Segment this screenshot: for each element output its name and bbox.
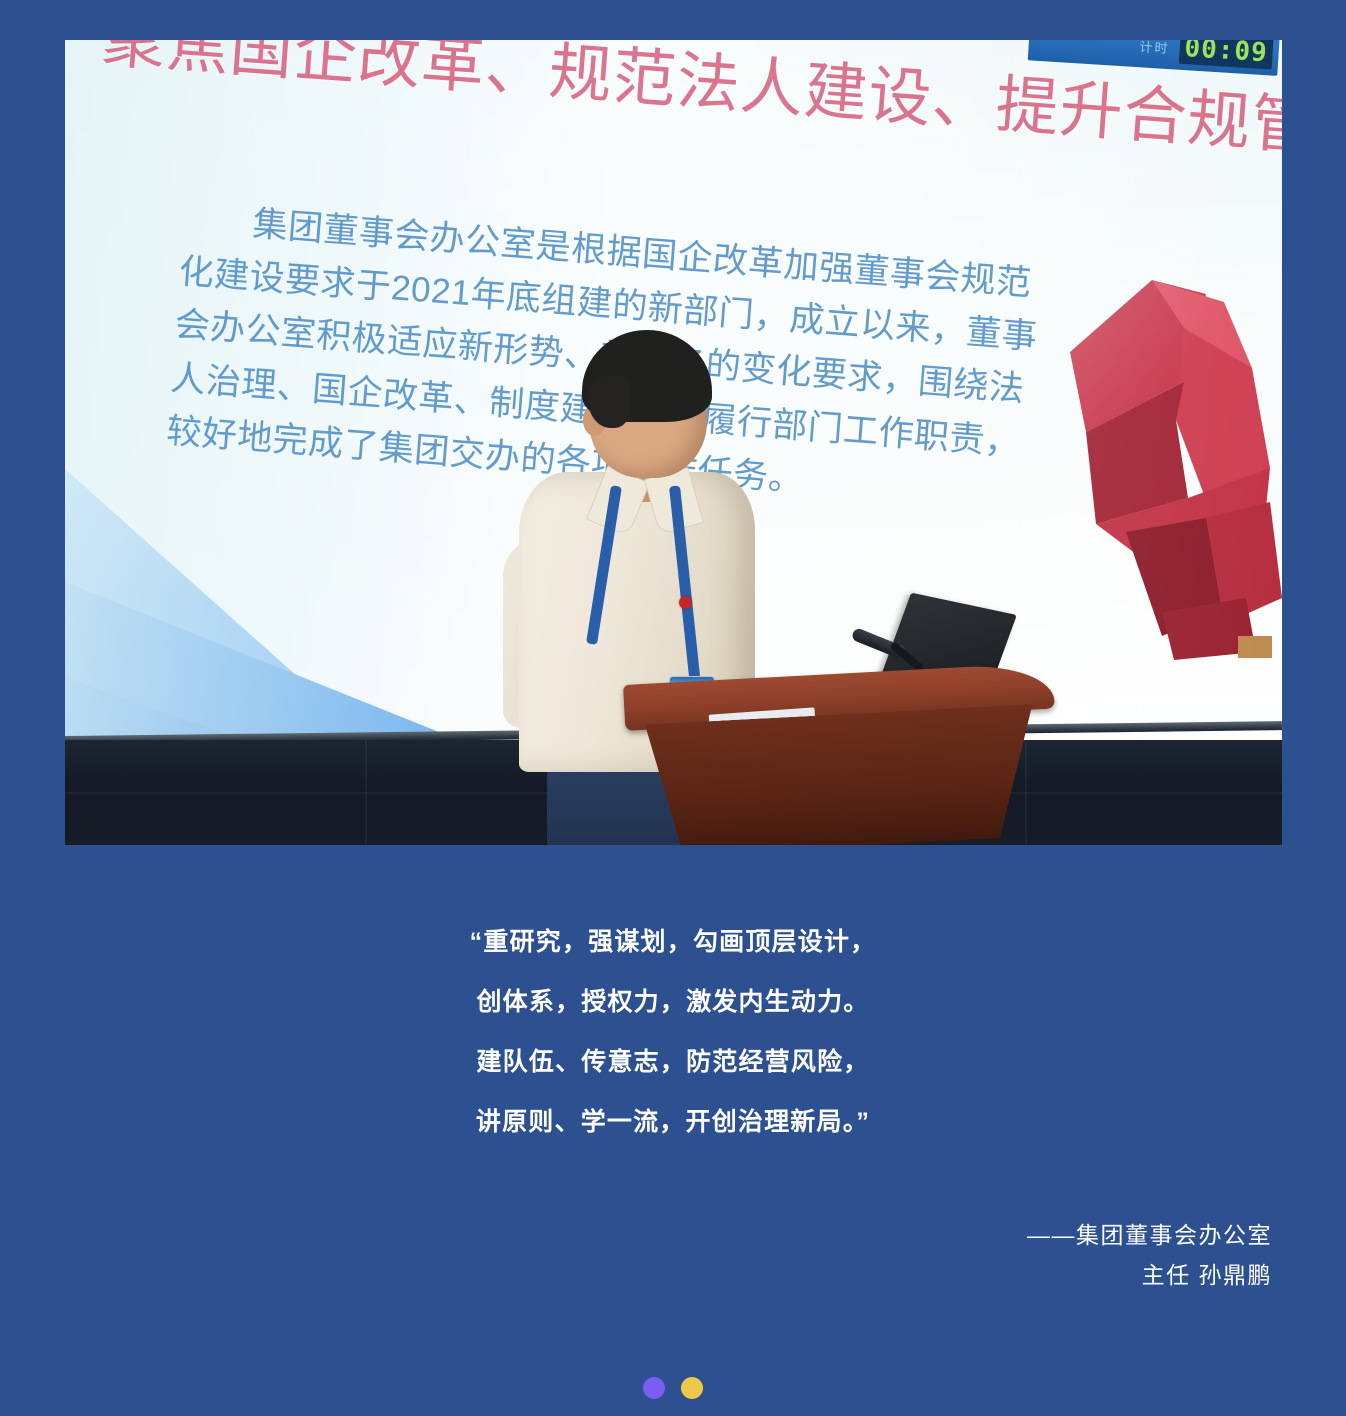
attribution-department: ——集团董事会办公室 <box>652 1215 1272 1255</box>
podium-front-panel <box>637 704 1039 845</box>
attribution-person: 主任 孙鼎鹏 <box>652 1255 1272 1295</box>
timer-value: 00:09 <box>1179 40 1274 70</box>
quote-line: 建队伍、传意志，防范经营风险， <box>0 1032 1346 1092</box>
quote-block: “重研究，强谋划，勾画顶层设计， 创体系，授权力，激发内生动力。 建队伍、传意志… <box>0 912 1346 1152</box>
quote-line: 讲原则、学一流，开创治理新局。” <box>0 1092 1346 1152</box>
lapel-pin-icon <box>679 596 692 609</box>
presentation-photo: 聚焦国企改革、规范法人建设、提升合规管理 集团董事会办公室是根据国企改革加强董事… <box>65 40 1282 845</box>
carousel-dots[interactable] <box>0 1377 1346 1399</box>
speaker-hair <box>582 330 712 422</box>
slide-page: 聚焦国企改革、规范法人建设、提升合规管理 集团董事会办公室是根据国企改革加强董事… <box>0 0 1346 1416</box>
carousel-dot-2[interactable] <box>681 1377 703 1399</box>
red-sculpture-graphic <box>1056 232 1282 662</box>
attribution-block: ——集团董事会办公室 主任 孙鼎鹏 <box>652 1215 1272 1295</box>
presentation-timer: 计时 00:09 <box>1028 40 1280 76</box>
carousel-dot-1[interactable] <box>643 1377 665 1399</box>
quote-line: 创体系，授权力，激发内生动力。 <box>0 972 1346 1032</box>
timer-label: 计时 <box>1139 40 1170 57</box>
podium <box>623 685 1053 845</box>
quote-line: “重研究，强谋划，勾画顶层设计， <box>0 912 1346 972</box>
